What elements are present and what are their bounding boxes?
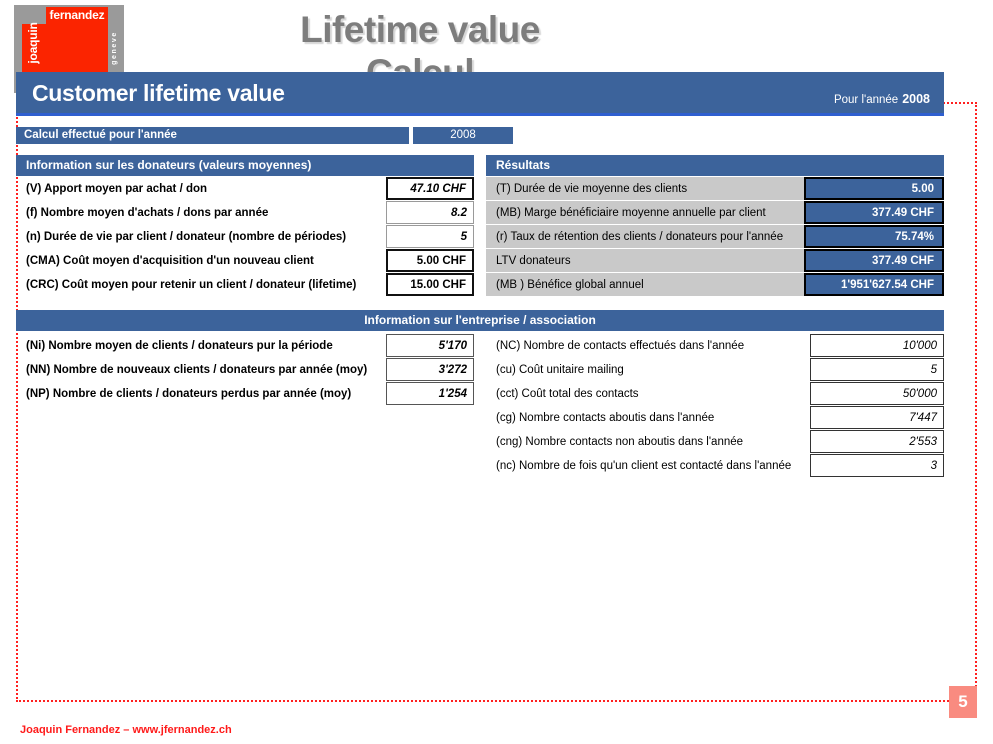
donor-value-n[interactable]: 5 [386, 225, 474, 248]
year-prefix-label: Pour l'année [834, 94, 898, 106]
enterprise-section-heading: Information sur l'entreprise / associati… [16, 310, 944, 331]
calc-year-label: Calcul effectué pour l'année [16, 127, 411, 144]
table-row: (r) Taux de rétention des clients / dona… [486, 225, 944, 248]
page-number-badge: 5 [949, 686, 977, 718]
donor-value-v[interactable]: 47.10 CHF [386, 177, 474, 200]
panels-row: Information sur les donateurs (valeurs m… [16, 155, 944, 297]
table-row: (cu) Coût unitaire mailing 5 [486, 358, 944, 381]
result-label-global: (MB ) Bénéfice global annuel [486, 273, 804, 296]
ent-value-cg[interactable]: 7'447 [810, 406, 944, 429]
table-row: (CRC) Coût moyen pour retenir un client … [16, 273, 474, 296]
slide: fernandez joaquin geneve recherche marke… [0, 0, 993, 744]
table-row: (Ni) Nombre moyen de clients / donateurs… [16, 334, 474, 357]
table-row: (f) Nombre moyen d'achats / dons par ann… [16, 201, 474, 224]
donor-label-crc: (CRC) Coût moyen pour retenir un client … [16, 273, 386, 296]
table-row: (NP) Nombre de clients / donateurs perdu… [16, 382, 474, 405]
table-row: (cg) Nombre contacts aboutis dans l'anné… [486, 406, 944, 429]
donor-value-crc[interactable]: 15.00 CHF [386, 273, 474, 296]
footer-credit: Joaquin Fernandez – www.jfernandez.ch [20, 724, 232, 736]
donors-panel-heading: Information sur les donateurs (valeurs m… [16, 155, 474, 176]
donor-label-f: (f) Nombre moyen d'achats / dons par ann… [16, 201, 386, 224]
calc-year-value[interactable]: 2008 [413, 127, 513, 144]
table-row: LTV donateurs 377.49 CHF [486, 249, 944, 272]
donor-label-v: (V) Apport moyen par achat / don [16, 177, 386, 200]
result-value-global: 1'951'627.54 CHF [804, 273, 944, 296]
card-header-title: Customer lifetime value [32, 80, 285, 107]
ent-label-cu: (cu) Coût unitaire mailing [486, 358, 810, 381]
table-row: (T) Durée de vie moyenne des clients 5.0… [486, 177, 944, 200]
year-value: 2008 [902, 92, 930, 106]
ent-value-ni[interactable]: 5'170 [386, 334, 474, 357]
result-value-r: 75.74% [804, 225, 944, 248]
results-panel: Résultats (T) Durée de vie moyenne des c… [486, 155, 944, 297]
ent-label-ni: (Ni) Nombre moyen de clients / donateurs… [16, 334, 386, 357]
ent-label-np: (NP) Nombre de clients / donateurs perdu… [16, 382, 386, 405]
logo-brand-text: fernandez [46, 7, 108, 24]
ent-value-nc2[interactable]: 3 [810, 454, 944, 477]
ent-label-cg: (cg) Nombre contacts aboutis dans l'anné… [486, 406, 810, 429]
result-label-mb: (MB) Marge bénéficiaire moyenne annuelle… [486, 201, 804, 224]
result-label-ltv: LTV donateurs [486, 249, 804, 272]
ent-label-nc2: (nc) Nombre de fois qu'un client est con… [486, 454, 810, 477]
donors-table: (V) Apport moyen par achat / don 47.10 C… [16, 176, 474, 297]
enterprise-section-body: (Ni) Nombre moyen de clients / donateurs… [16, 333, 944, 463]
calc-year-row: Calcul effectué pour l'année 2008 [16, 127, 944, 144]
ent-value-cng[interactable]: 2'553 [810, 430, 944, 453]
donor-value-cma[interactable]: 5.00 CHF [386, 249, 474, 272]
donor-label-n: (n) Durée de vie par client / donateur (… [16, 225, 386, 248]
logo-firstname-text: joaquin [26, 18, 40, 68]
enterprise-right-column: (NC) Nombre de contacts effectués dans l… [486, 333, 944, 478]
table-row: (cng) Nombre contacts non aboutis dans l… [486, 430, 944, 453]
ent-label-nn: (NN) Nombre de nouveaux clients / donate… [16, 358, 386, 381]
logo-city-text: geneve [109, 25, 121, 71]
table-row: (NN) Nombre de nouveaux clients / donate… [16, 358, 474, 381]
result-value-t: 5.00 [804, 177, 944, 200]
ent-value-cu[interactable]: 5 [810, 358, 944, 381]
result-label-t: (T) Durée de vie moyenne des clients [486, 177, 804, 200]
table-row: (V) Apport moyen par achat / don 47.10 C… [16, 177, 474, 200]
results-table: (T) Durée de vie moyenne des clients 5.0… [486, 176, 944, 297]
donors-panel: Information sur les donateurs (valeurs m… [16, 155, 474, 297]
table-row: (MB) Marge bénéficiaire moyenne annuelle… [486, 201, 944, 224]
ent-label-cng: (cng) Nombre contacts non aboutis dans l… [486, 430, 810, 453]
ent-value-np[interactable]: 1'254 [386, 382, 474, 405]
ent-value-nc[interactable]: 10'000 [810, 334, 944, 357]
result-label-r: (r) Taux de rétention des clients / dona… [486, 225, 804, 248]
page-title-line1: Lifetime value [140, 8, 700, 51]
ent-value-nn[interactable]: 3'272 [386, 358, 474, 381]
logo-city-bar: geneve [108, 24, 122, 73]
ent-value-cct[interactable]: 50'000 [810, 382, 944, 405]
card-header: Customer lifetime value Pour l'année2008 [16, 72, 944, 116]
result-value-ltv: 377.49 CHF [804, 249, 944, 272]
ent-label-nc: (NC) Nombre de contacts effectués dans l… [486, 334, 810, 357]
table-row: (NC) Nombre de contacts effectués dans l… [486, 334, 944, 357]
donor-value-f[interactable]: 8.2 [386, 201, 474, 224]
enterprise-left-table: (Ni) Nombre moyen de clients / donateurs… [16, 333, 474, 406]
enterprise-left-column: (Ni) Nombre moyen de clients / donateurs… [16, 333, 474, 406]
ent-label-cct: (cct) Coût total des contacts [486, 382, 810, 405]
lifetime-value-card: Customer lifetime value Pour l'année2008… [16, 72, 944, 463]
table-row: (nc) Nombre de fois qu'un client est con… [486, 454, 944, 477]
donor-label-cma: (CMA) Coût moyen d'acquisition d'un nouv… [16, 249, 386, 272]
table-row: (cct) Coût total des contacts 50'000 [486, 382, 944, 405]
results-panel-heading: Résultats [486, 155, 944, 176]
enterprise-right-table: (NC) Nombre de contacts effectués dans l… [486, 333, 944, 478]
logo-red-box: joaquin [22, 24, 108, 73]
table-row: (CMA) Coût moyen d'acquisition d'un nouv… [16, 249, 474, 272]
table-row: (n) Durée de vie par client / donateur (… [16, 225, 474, 248]
card-header-year: Pour l'année2008 [834, 92, 930, 106]
table-row: (MB ) Bénéfice global annuel 1'951'627.5… [486, 273, 944, 296]
result-value-mb: 377.49 CHF [804, 201, 944, 224]
